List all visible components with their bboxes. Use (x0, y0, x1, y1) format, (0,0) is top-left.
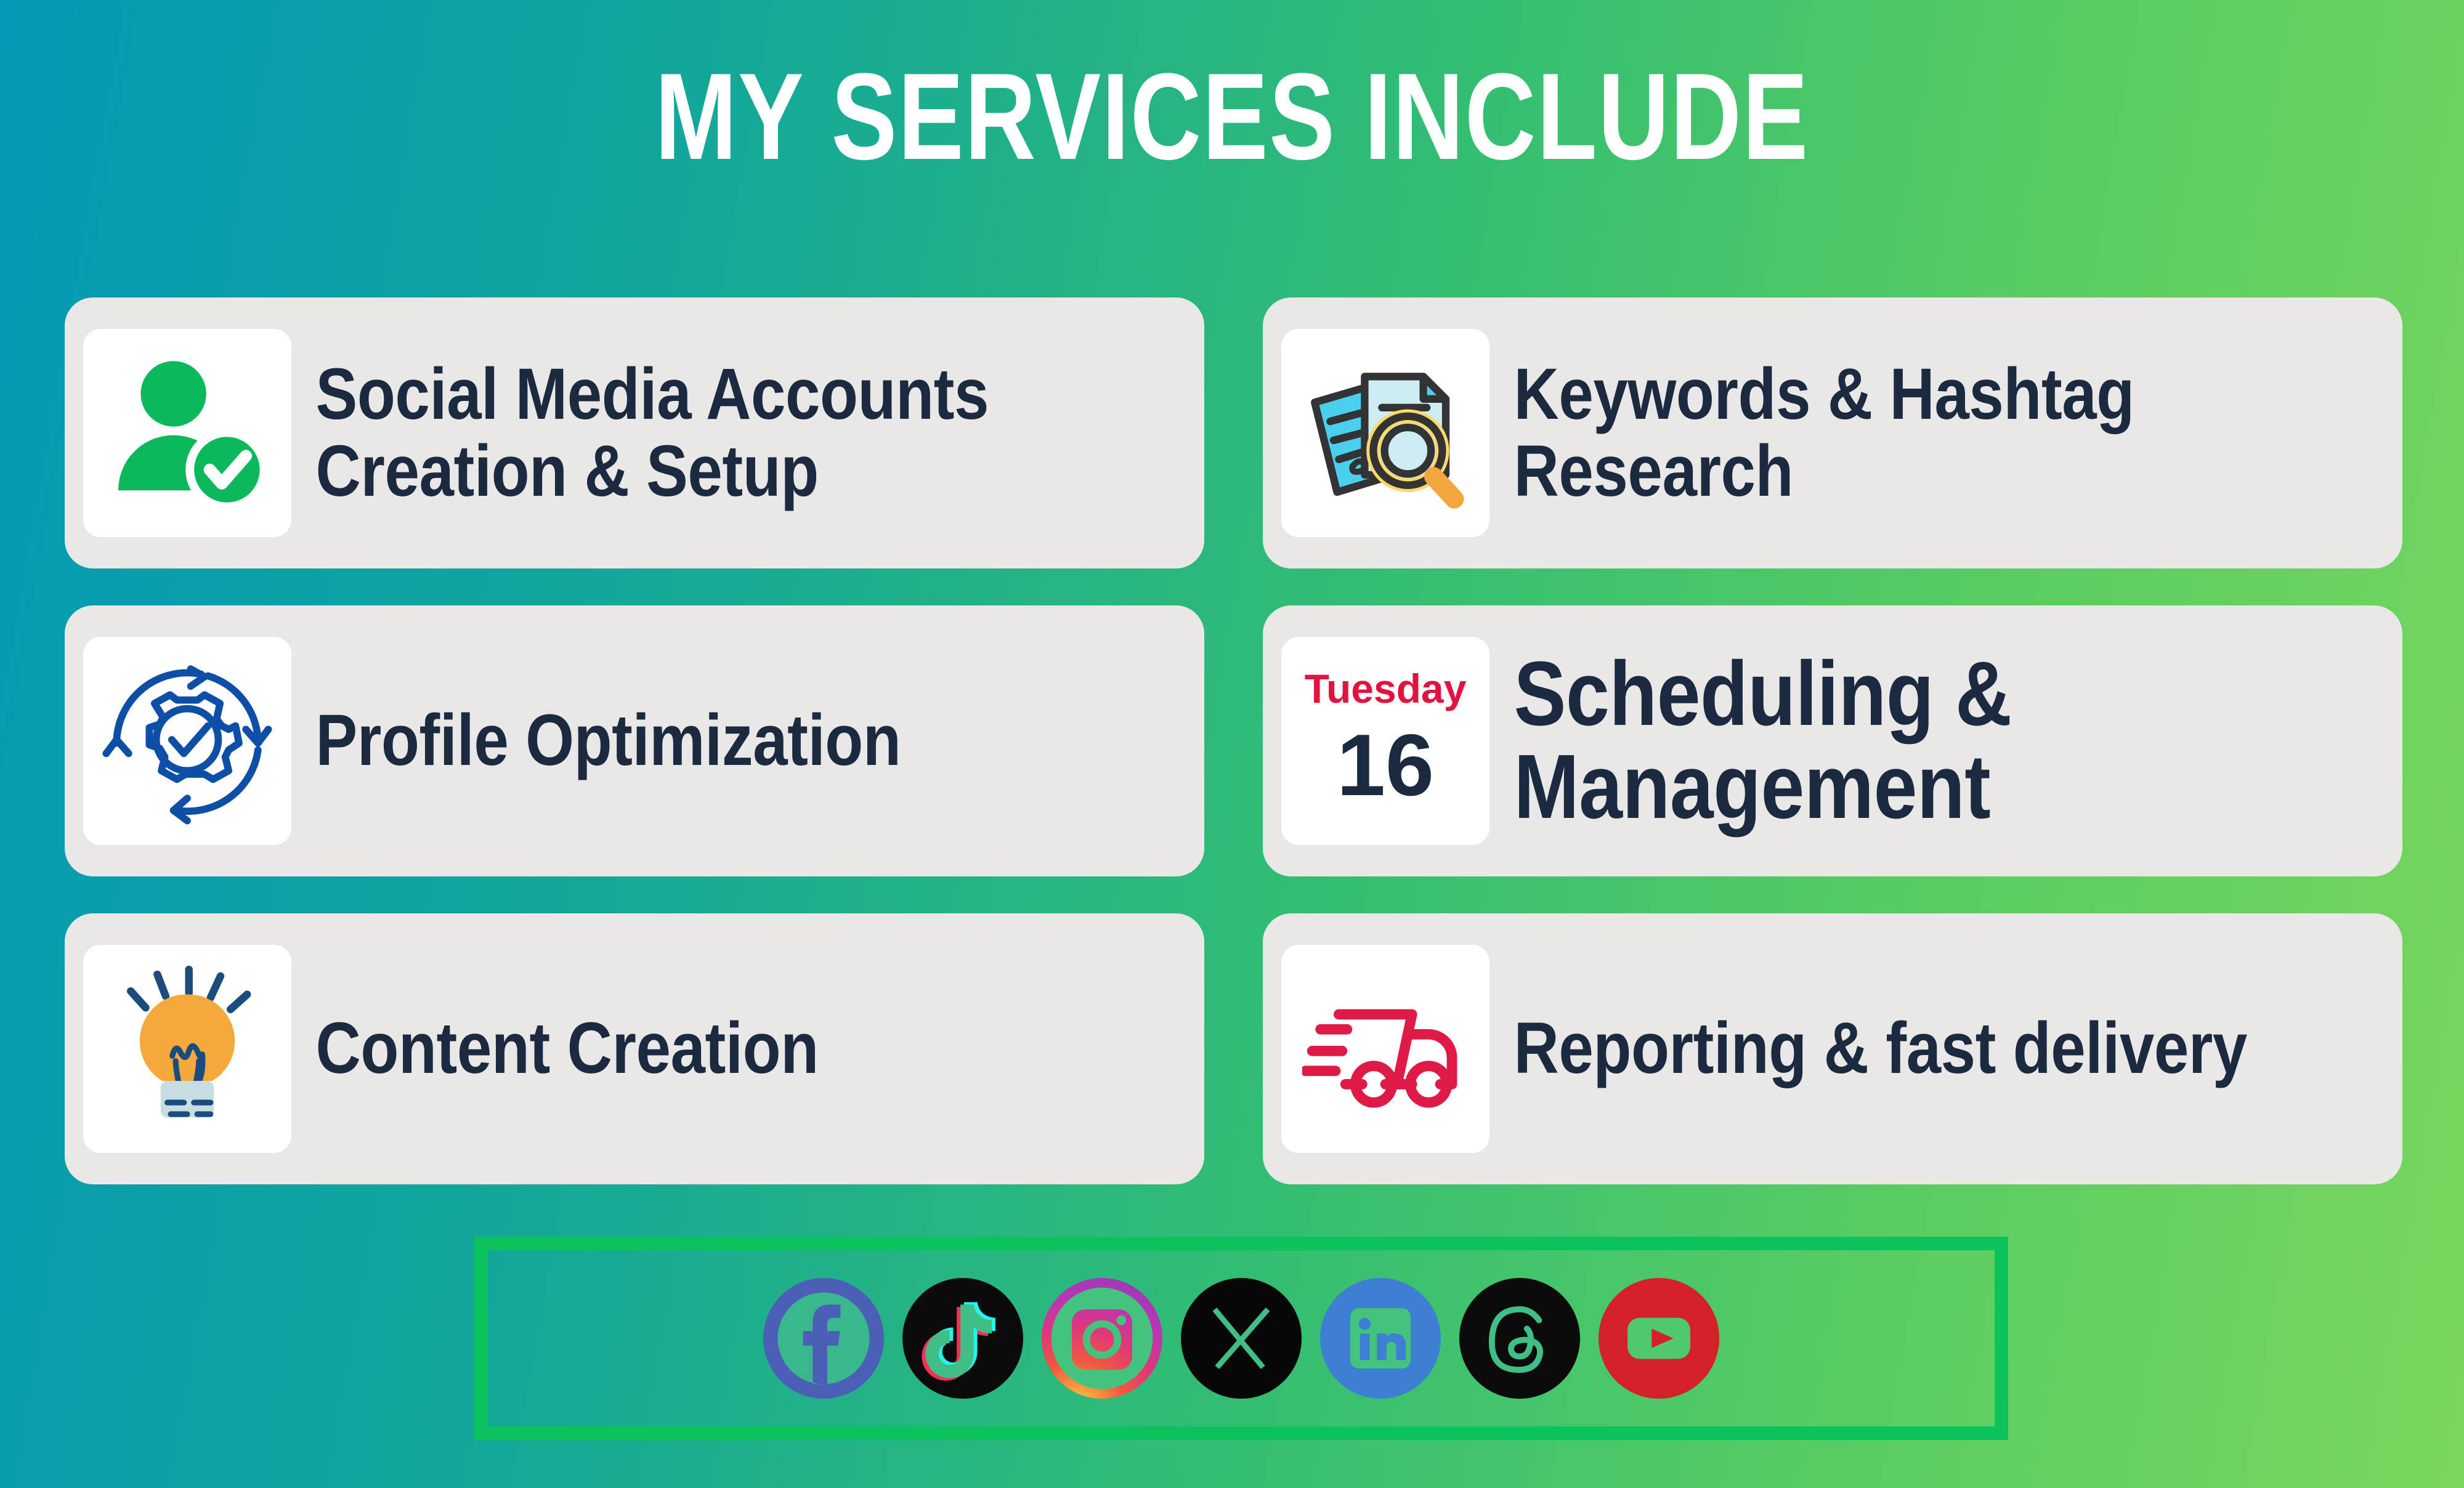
service-card-keywords-hashtag-research[interactable]: Keywords & Hashtag Research (1263, 297, 2402, 568)
icon-tile (83, 329, 291, 537)
icon-tile (83, 637, 291, 845)
services-grid: Social Media Accounts Creation & Setup (65, 297, 2402, 1184)
page-title: MY SERVICES INCLUDE (246, 55, 2218, 179)
threads-icon[interactable] (1459, 1278, 1580, 1399)
icon-tile (83, 945, 291, 1153)
service-label: Social Media Accounts Creation & Setup (291, 356, 1061, 510)
service-card-reporting-fast-delivery[interactable]: Reporting & fast delivery (1263, 913, 2402, 1184)
user-check-icon (101, 346, 274, 521)
icon-tile (1281, 945, 1489, 1153)
service-card-content-creation[interactable]: Content Creation (65, 913, 1204, 1184)
lightbulb-icon (104, 964, 270, 1134)
youtube-icon[interactable] (1599, 1278, 1719, 1399)
gear-check-cycle-icon (101, 653, 274, 829)
service-label: Profile Optimization (291, 702, 901, 779)
linkedin-icon[interactable] (1320, 1278, 1441, 1399)
calendar-day: 16 (1281, 718, 1489, 814)
service-label: Keywords & Hashtag Research (1489, 356, 2259, 510)
service-card-social-media-accounts[interactable]: Social Media Accounts Creation & Setup (65, 297, 1204, 568)
icon-tile (1281, 329, 1489, 537)
calendar-weekday: Tuesday (1281, 668, 1489, 709)
social-icons-bar (474, 1237, 2008, 1440)
documents-search-icon (1299, 346, 1472, 521)
tiktok-icon[interactable] (902, 1278, 1023, 1399)
facebook-icon[interactable] (763, 1278, 884, 1399)
service-label: Reporting & fast delivery (1489, 1010, 2247, 1087)
service-label: Content Creation (291, 1010, 819, 1087)
calendar-icon: Tuesday 16 (1281, 668, 1489, 814)
service-label: Scheduling & Management (1489, 648, 2259, 834)
service-card-scheduling-management[interactable]: Tuesday 16 Scheduling & Management (1263, 605, 2402, 876)
services-poster: MY SERVICES INCLUDE Social Media Account… (0, 0, 2464, 1488)
x-twitter-icon[interactable] (1181, 1278, 1302, 1399)
instagram-icon[interactable] (1042, 1278, 1162, 1399)
icon-tile: Tuesday 16 (1281, 637, 1489, 845)
delivery-truck-icon (1302, 964, 1469, 1134)
service-card-profile-optimization[interactable]: Profile Optimization (65, 605, 1204, 876)
